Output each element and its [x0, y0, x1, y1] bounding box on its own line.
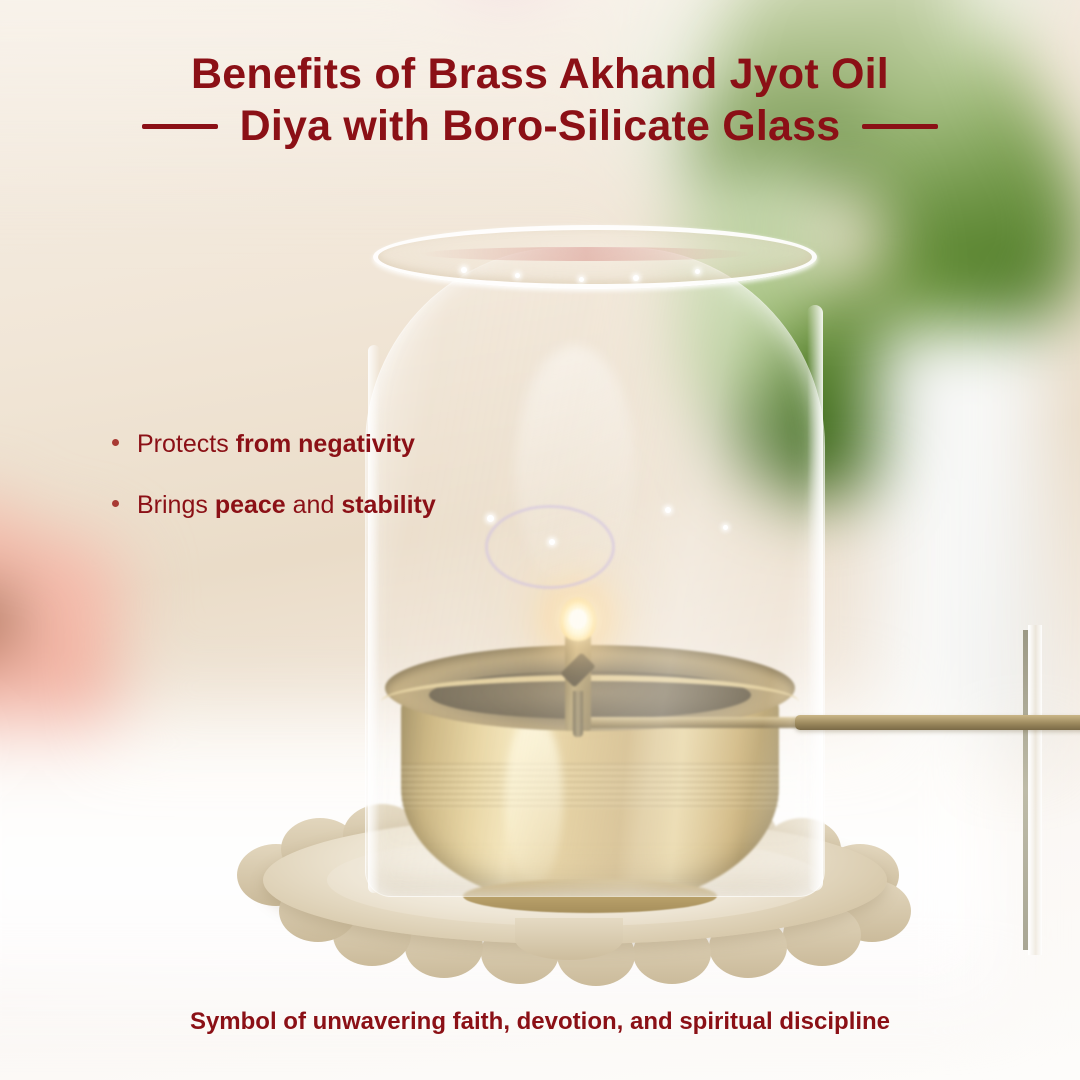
dome-left-edge-highlight — [368, 345, 380, 893]
rim-sparkle — [695, 269, 700, 274]
brass-akhand-jyot-oil-diya — [235, 225, 935, 985]
bullet-dot-icon — [112, 439, 119, 446]
page-title: Benefits of Brass Akhand Jyot Oil Diya w… — [0, 48, 1080, 153]
benefit-2-emphasis: peace — [215, 491, 286, 519]
benefit-2-prefix: Brings — [137, 491, 215, 519]
title-line-1: Benefits of Brass Akhand Jyot Oil — [0, 48, 1080, 100]
wick-adjuster-rod — [795, 715, 1080, 730]
dome-rim-reflection — [421, 247, 751, 261]
dome-right-edge-highlight — [807, 305, 823, 891]
title-line-2: Diya with Boro-Silicate Glass — [240, 100, 841, 152]
benefit-text-1: Protects from negativity — [137, 430, 415, 459]
benefit-2-emphasis-2: stability — [341, 491, 435, 519]
benefit-text-2: Brings peace and stability — [137, 491, 436, 520]
benefit-2-suffix: and — [286, 491, 342, 519]
base-plate-foot — [515, 918, 623, 960]
footer-caption: Symbol of unwavering faith, devotion, an… — [0, 1008, 1080, 1036]
list-item: Brings peace and stability — [112, 491, 552, 520]
benefit-1-emphasis: from negativity — [236, 430, 415, 458]
bullet-dot-icon — [112, 500, 119, 507]
glass-sparkle — [723, 525, 728, 530]
rim-sparkle — [633, 275, 639, 281]
divider-left — [142, 124, 218, 129]
benefits-list: Protects from negativity Brings peace an… — [112, 430, 552, 552]
boro-silicate-glass-dome — [365, 225, 825, 897]
poster-canvas: Benefits of Brass Akhand Jyot Oil Diya w… — [0, 0, 1080, 1080]
list-item: Protects from negativity — [112, 430, 552, 459]
rim-sparkle — [461, 267, 467, 273]
divider-right — [862, 124, 938, 129]
benefit-1-prefix: Protects — [137, 430, 236, 458]
glass-sparkle — [665, 507, 671, 513]
rim-sparkle — [515, 273, 520, 278]
rim-sparkle — [579, 277, 584, 282]
dome-vertical-edge — [1028, 625, 1042, 955]
